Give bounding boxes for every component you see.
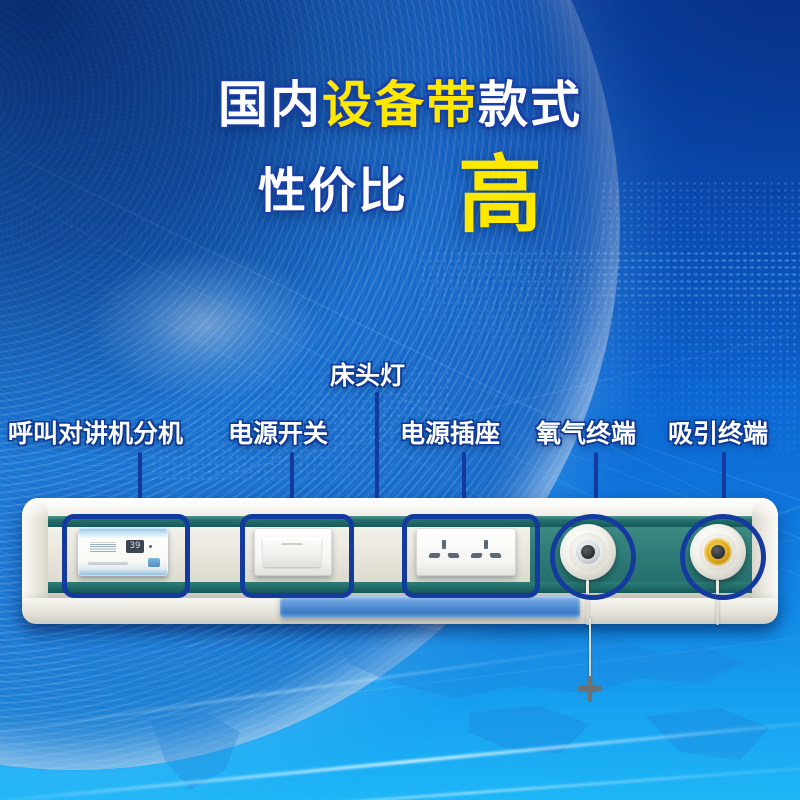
suction-terminal-port[interactable]	[711, 545, 725, 559]
socket-hole-top-right	[484, 540, 488, 549]
suction-terminal-cord	[716, 580, 719, 625]
speaker-grille-icon	[90, 542, 116, 552]
socket-hole-right-right	[489, 553, 501, 558]
panel-stripe-bottom	[22, 582, 778, 593]
callout-label-power-socket: 电源插座	[400, 414, 500, 450]
callout-label-bed-lamp: 床头灯	[330, 356, 405, 392]
callout-label-intercom: 呼叫对讲机分机	[8, 414, 183, 450]
callout-label-oxygen: 氧气终端	[536, 414, 636, 450]
socket-outlet-right[interactable]	[468, 540, 506, 566]
socket-outlet-left[interactable]	[426, 540, 464, 566]
switch-rocker[interactable]	[263, 537, 321, 567]
panel-highlight-gloss	[22, 498, 778, 520]
power-socket-outlet[interactable]	[416, 528, 516, 576]
intercom-indicator-led	[149, 545, 152, 548]
socket-hole-left-right	[470, 553, 482, 558]
bed-lamp-diffuser[interactable]	[280, 596, 580, 618]
halftone-dots-upper	[600, 180, 800, 300]
oxygen-terminal-port[interactable]	[581, 545, 595, 559]
suction-terminal-outlet[interactable]	[690, 524, 746, 580]
poster-canvas: 国内设备带款式 性价比 高 呼叫对讲机分机 电源开关 床头灯 电源插座 氧气终端…	[0, 0, 800, 800]
socket-hole-top-left	[442, 540, 446, 549]
callout-label-suction: 吸引终端	[668, 414, 768, 450]
callout-label-light-switch: 电源开关	[228, 414, 328, 450]
power-light-switch[interactable]	[254, 528, 332, 576]
socket-hole-left-left	[428, 553, 440, 558]
intercom-call-button[interactable]	[148, 558, 160, 567]
pull-cord[interactable]	[589, 618, 591, 684]
nurse-call-intercom-device[interactable]: 39	[78, 528, 168, 576]
intercom-slot	[88, 562, 128, 565]
world-map-silhouette	[0, 620, 800, 800]
oxygen-terminal-outlet[interactable]	[560, 524, 616, 580]
intercom-display: 39	[126, 540, 144, 553]
socket-hole-right-left	[447, 553, 459, 558]
